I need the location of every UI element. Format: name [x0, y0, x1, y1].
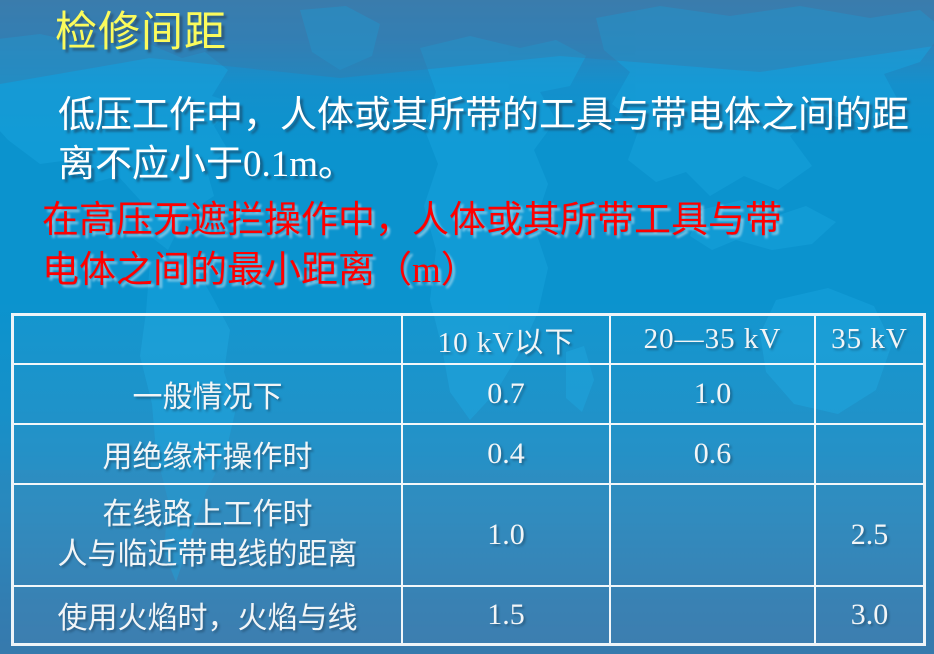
presentation-slide: 检修间距 低压工作中，人体或其所带的工具与带电体之间的距离不应小于0.1m。 在…	[0, 0, 934, 654]
high-voltage-line-2: 电体之间的最小距离（m）	[42, 246, 922, 296]
cell-general-20-35kv: 1.0	[610, 364, 815, 424]
row-label-line-work-line2: 人与临近带电线的距离	[18, 535, 397, 576]
minimum-distance-table: 10 kV以下 20—35 kV 35 kV 一般情况下 0.7 1.0 用绝缘…	[11, 313, 926, 646]
cell-general-10kv: 0.7	[402, 364, 610, 424]
row-label-line-work: 在线路上工作时 人与临近带电线的距离	[13, 484, 403, 586]
table-row: 用绝缘杆操作时 0.4 0.6	[13, 424, 925, 484]
cell-line-work-35kv: 2.5	[815, 484, 925, 586]
cell-general-35kv	[815, 364, 925, 424]
cell-insulating-rod-20-35kv: 0.6	[610, 424, 815, 484]
table-header-row: 10 kV以下 20—35 kV 35 kV	[13, 315, 925, 365]
cell-line-work-10kv: 1.0	[402, 484, 610, 586]
table-header-cell-20-35kv: 20—35 kV	[610, 315, 815, 365]
cell-flame-10kv: 1.5	[402, 586, 610, 645]
table-row: 使用火焰时，火焰与线 1.5 3.0	[13, 586, 925, 645]
body-paragraph-high-voltage: 在高压无遮拦操作中，人体或其所带工具与带 电体之间的最小距离（m）	[42, 196, 922, 296]
table-row: 在线路上工作时 人与临近带电线的距离 1.0 2.5	[13, 484, 925, 586]
row-label-line-work-line1: 在线路上工作时	[18, 495, 397, 536]
row-label-general: 一般情况下	[13, 364, 403, 424]
table-header-cell-10kv: 10 kV以下	[402, 315, 610, 365]
cell-line-work-20-35kv	[610, 484, 815, 586]
table-header-cell-blank	[13, 315, 403, 365]
table-row: 一般情况下 0.7 1.0	[13, 364, 925, 424]
cell-insulating-rod-35kv	[815, 424, 925, 484]
slide-title: 检修间距	[55, 9, 227, 57]
row-label-flame: 使用火焰时，火焰与线	[13, 586, 403, 645]
body-paragraph-low-voltage: 低压工作中，人体或其所带的工具与带电体之间的距离不应小于0.1m。	[58, 92, 918, 190]
row-label-insulating-rod: 用绝缘杆操作时	[13, 424, 403, 484]
cell-flame-35kv: 3.0	[815, 586, 925, 645]
table-header-cell-35kv: 35 kV	[815, 315, 925, 365]
cell-insulating-rod-10kv: 0.4	[402, 424, 610, 484]
high-voltage-line-1: 在高压无遮拦操作中，人体或其所带工具与带	[42, 200, 782, 241]
cell-flame-20-35kv	[610, 586, 815, 645]
